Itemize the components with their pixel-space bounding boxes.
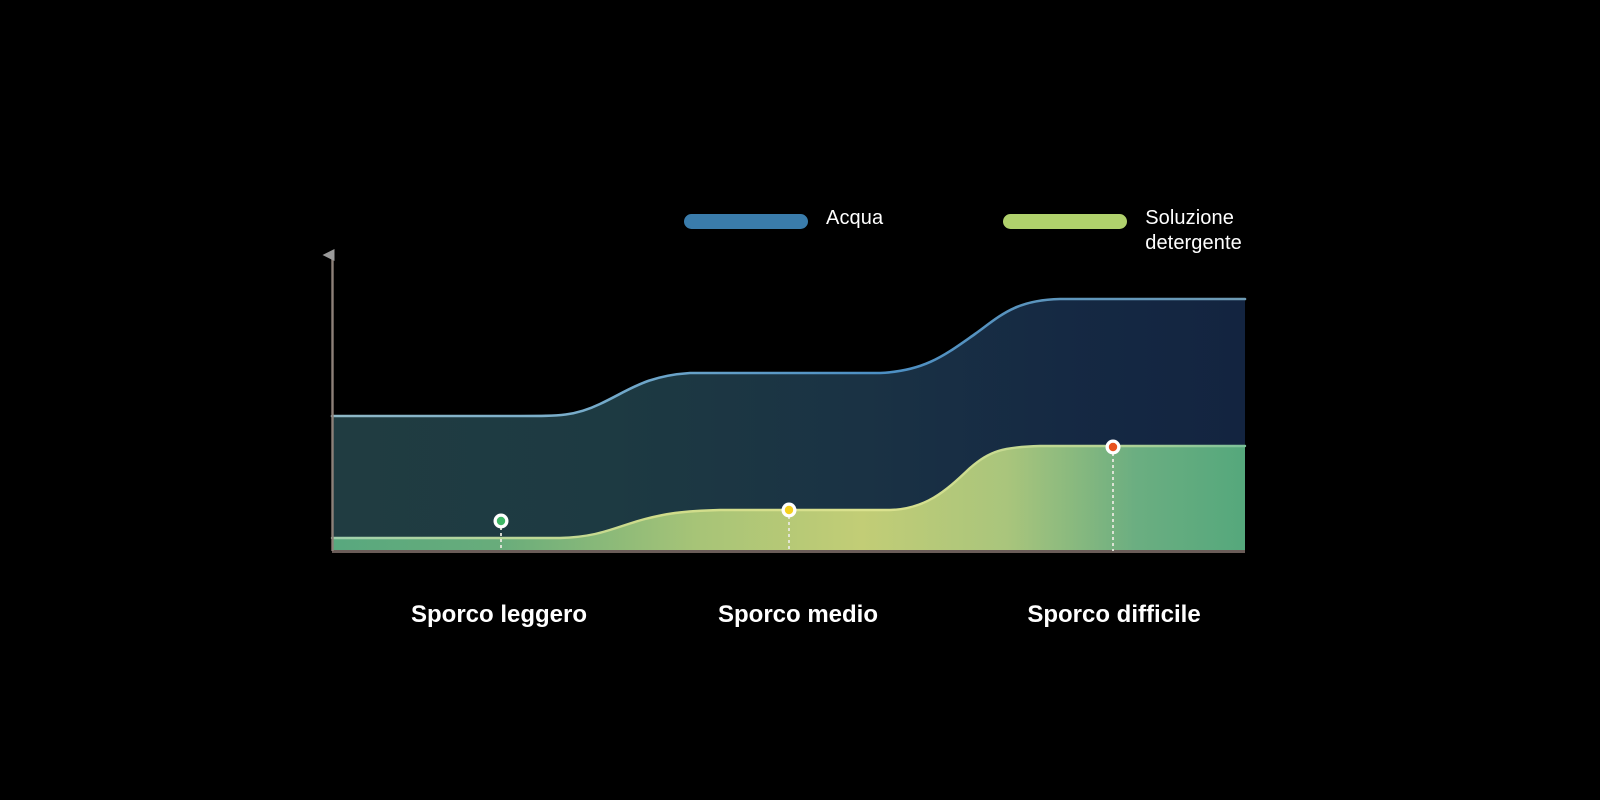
data-point-marker-sporco-medio[interactable] (782, 503, 797, 518)
data-point-marker-sporco-difficile[interactable] (1106, 440, 1121, 455)
x-axis-label-sporco-leggero: Sporco leggero (411, 598, 587, 632)
x-axis-labels: Sporco leggero Sporco medio Sporco diffi… (332, 598, 1245, 634)
chart-canvas: Acqua Soluzione detergente (0, 0, 1600, 800)
data-point-marker-sporco-leggero[interactable] (494, 514, 509, 529)
area-chart (0, 0, 1600, 800)
x-axis-label-sporco-difficile: Sporco difficile (1027, 598, 1200, 632)
x-axis-label-sporco-medio: Sporco medio (718, 598, 878, 632)
